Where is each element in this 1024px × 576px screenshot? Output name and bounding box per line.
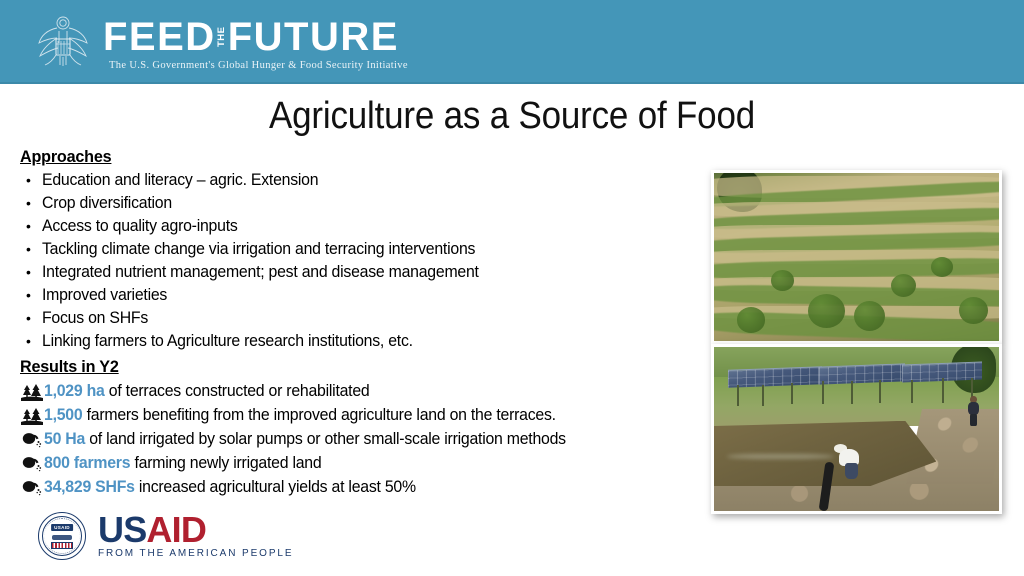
result-item-text: 1,500 farmers benefiting from the improv… — [44, 404, 556, 427]
usaid-seal-icon: USAID — [38, 512, 86, 560]
usaid-logo: USAID USAID FROM THE AMERICAN PEOPLE — [38, 510, 293, 562]
result-item-text: 50 Ha of land irrigated by solar pumps o… — [44, 428, 566, 451]
approaches-item-text: Improved varieties — [42, 284, 167, 307]
result-item-text: 800 farmers farming newly irrigated land — [44, 452, 321, 475]
bullet-dot-icon: • — [20, 284, 42, 307]
bullet-dot-icon: • — [20, 169, 42, 192]
bullet-dot-icon: • — [20, 192, 42, 215]
watering-can-icon — [20, 430, 44, 449]
list-item: • Linking farmers to Agriculture researc… — [20, 330, 710, 353]
banner-tagline: The U.S. Government's Global Hunger & Fo… — [109, 60, 408, 71]
page-title: Agriculture as a Source of Food — [41, 95, 983, 138]
solar-irrigation-reservoir-photo — [711, 344, 1002, 514]
brand-word-feed: FEED — [103, 16, 216, 58]
brand-word-future: FUTURE — [228, 16, 399, 58]
list-item: • Tackling climate change via irrigation… — [20, 238, 710, 261]
bullet-dot-icon: • — [20, 215, 42, 238]
result-desc: of land irrigated by solar pumps or othe… — [85, 430, 566, 448]
result-item-text: 34,829 SHFs increased agricultural yield… — [44, 476, 416, 499]
approaches-item-text: Linking farmers to Agriculture research … — [42, 330, 413, 353]
list-item: • Integrated nutrient management; pest a… — [20, 261, 710, 284]
approaches-item-text: Focus on SHFs — [42, 307, 148, 330]
feed-the-future-wordmark: FEED THE FUTURE The U.S. Government's Gl… — [103, 16, 408, 62]
feed-the-future-banner: FEED THE FUTURE The U.S. Government's Gl… — [0, 0, 1024, 84]
result-item-text: 1,029 ha of terraces constructed or reha… — [44, 380, 369, 403]
result-desc: farming newly irrigated land — [130, 454, 321, 472]
slide-body: Approaches • Education and literacy – ag… — [20, 147, 710, 499]
usaid-word-aid: AID — [146, 509, 206, 550]
bullet-dot-icon: • — [20, 238, 42, 261]
trees-icon — [20, 382, 44, 401]
watering-can-icon — [20, 454, 44, 473]
list-item: • Focus on SHFs — [20, 307, 710, 330]
usaid-word-us: US — [98, 509, 146, 550]
result-value: 50 Ha — [44, 430, 85, 448]
list-item: 1,500 farmers benefiting from the improv… — [20, 404, 710, 427]
approaches-item-text: Integrated nutrient management; pest and… — [42, 261, 479, 284]
list-item: • Improved varieties — [20, 284, 710, 307]
result-desc: farmers benefiting from the improved agr… — [82, 406, 555, 424]
usaid-tagline: FROM THE AMERICAN PEOPLE — [98, 548, 293, 559]
approaches-list: • Education and literacy – agric. Extens… — [20, 169, 710, 353]
result-desc: of terraces constructed or rehabilitated — [105, 382, 370, 400]
result-value: 1,029 ha — [44, 382, 105, 400]
list-item: • Education and literacy – agric. Extens… — [20, 169, 710, 192]
result-desc: increased agricultural yields at least 5… — [135, 478, 416, 496]
watering-can-icon — [20, 478, 44, 497]
usaid-wordmark: USAID — [98, 513, 293, 547]
list-item: 800 farmers farming newly irrigated land — [20, 452, 710, 475]
approaches-item-text: Access to quality agro-inputs — [42, 215, 238, 238]
usaid-seal-label: USAID — [51, 524, 73, 531]
approaches-item-text: Education and literacy – agric. Extensio… — [42, 169, 318, 192]
list-item: 34,829 SHFs increased agricultural yield… — [20, 476, 710, 499]
us-great-seal-eagle-icon — [33, 13, 93, 71]
slide-canvas: FEED THE FUTURE The U.S. Government's Gl… — [0, 0, 1024, 576]
list-item: • Crop diversification — [20, 192, 710, 215]
bullet-dot-icon: • — [20, 261, 42, 284]
results-list: 1,029 ha of terraces constructed or reha… — [20, 380, 710, 499]
trees-icon — [20, 406, 44, 425]
list-item: 1,029 ha of terraces constructed or reha… — [20, 380, 710, 403]
approaches-item-text: Crop diversification — [42, 192, 172, 215]
result-value: 800 farmers — [44, 454, 130, 472]
brand-word-the: THE — [217, 19, 227, 55]
result-value: 34,829 SHFs — [44, 478, 135, 496]
bullet-dot-icon: • — [20, 307, 42, 330]
results-heading: Results in Y2 — [20, 357, 119, 377]
list-item: 50 Ha of land irrigated by solar pumps o… — [20, 428, 710, 451]
bullet-dot-icon: • — [20, 330, 42, 353]
terraced-farmland-photo — [711, 170, 1002, 344]
result-value: 1,500 — [44, 406, 82, 424]
approaches-item-text: Tackling climate change via irrigation a… — [42, 238, 475, 261]
list-item: • Access to quality agro-inputs — [20, 215, 710, 238]
approaches-heading: Approaches — [20, 147, 111, 167]
